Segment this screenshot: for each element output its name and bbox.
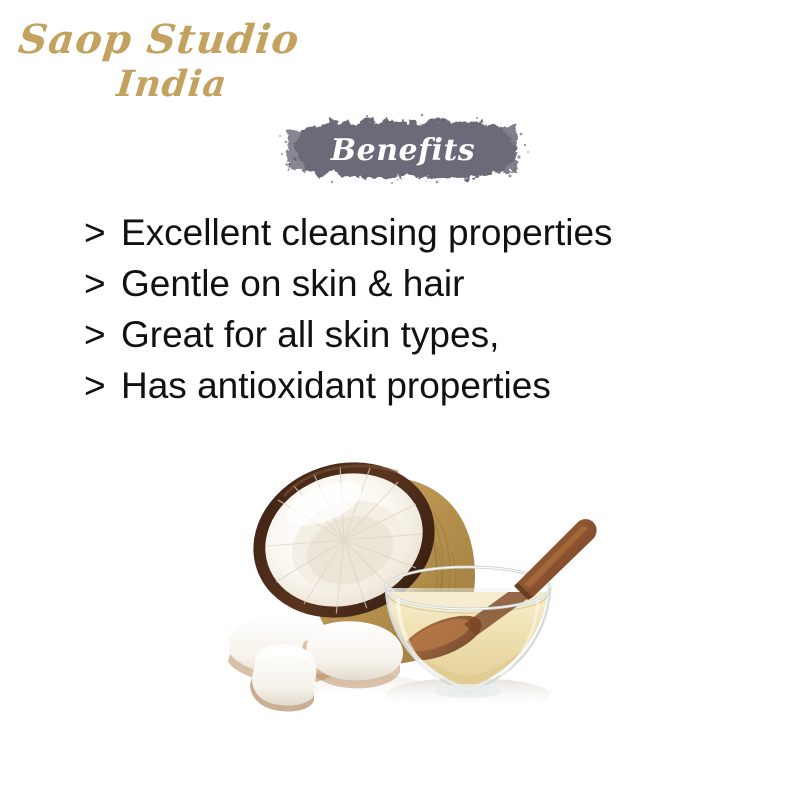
list-item: > Excellent cleansing properties: [84, 214, 774, 265]
brand-logo-line-1: Saop Studio: [12, 20, 306, 60]
list-item: > Gentle on skin & hair: [84, 265, 774, 316]
list-item-label: Has antioxidant properties: [121, 367, 551, 404]
benefits-banner: Benefits: [272, 112, 534, 186]
benefits-list: > Excellent cleansing properties > Gentl…: [84, 214, 774, 418]
list-item-label: Excellent cleansing properties: [121, 214, 613, 251]
benefits-title: Benefits: [272, 113, 534, 187]
coconut-oil-illustration: [212, 442, 620, 732]
poster-canvas: Saop Studio India: [0, 0, 800, 800]
product-photo: [212, 442, 620, 732]
list-item: > Has antioxidant properties: [84, 367, 774, 418]
bullet-marker-icon: >: [84, 214, 121, 251]
brand-logo-line-2: India: [12, 66, 306, 102]
bullet-marker-icon: >: [84, 367, 121, 404]
bullet-marker-icon: >: [84, 316, 121, 353]
list-item-label: Great for all skin types,: [121, 316, 499, 353]
wooden-spoon-handle: [514, 519, 597, 600]
bullet-marker-icon: >: [84, 265, 121, 302]
list-item-label: Gentle on skin & hair: [121, 265, 464, 302]
list-item: > Great for all skin types,: [84, 316, 774, 367]
brand-logo: Saop Studio India: [14, 16, 304, 112]
